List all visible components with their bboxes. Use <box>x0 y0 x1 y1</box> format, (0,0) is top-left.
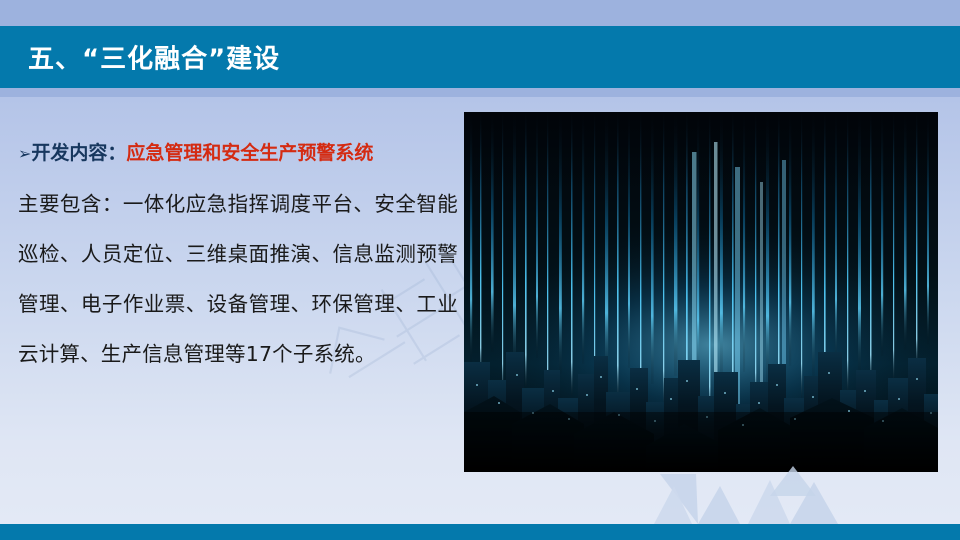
body-text-block: ➢开发内容：应急管理和安全生产预警系统 主要包含：一体化应急指挥调度平台、安全智… <box>18 128 458 379</box>
slide-title-bar: 五、“三化融合”建设 <box>0 26 960 88</box>
mountain-triangles-decoration <box>640 466 960 526</box>
bullet-arrow-icon: ➢ <box>18 144 31 163</box>
lead-value: 应急管理和安全生产预警系统 <box>126 142 373 164</box>
lead-label: 开发内容： <box>31 142 126 164</box>
page-title: 五、“三化融合”建设 <box>28 39 280 76</box>
bottom-accent-bar <box>0 524 960 540</box>
slide-canvas: 五、“三化融合”建设 ➢开发内容：应急管理和安全生产预警系统 主要包含：一体化应… <box>0 0 960 540</box>
body-paragraph: 主要包含：一体化应急指挥调度平台、安全智能巡检、人员定位、三维桌面推演、信息监测… <box>18 179 458 379</box>
digital-city-light-beams-image <box>464 112 938 472</box>
top-accent-band <box>0 0 960 26</box>
title-underline-band <box>0 88 960 97</box>
lead-heading: ➢开发内容：应急管理和安全生产预警系统 <box>18 128 458 179</box>
